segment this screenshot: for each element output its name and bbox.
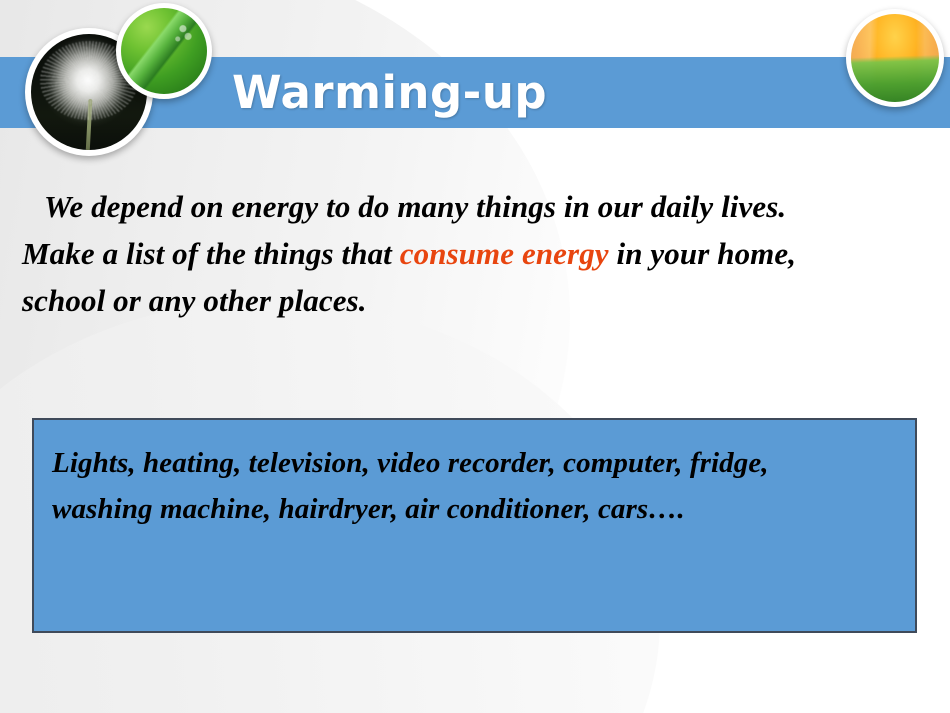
prompt-line-2-after-highlight: in your home, bbox=[609, 236, 796, 271]
page-title: Warming-up bbox=[232, 61, 852, 125]
answer-text-block: Lights, heating, television, video recor… bbox=[52, 440, 932, 532]
leaf-droplet-icon bbox=[121, 8, 207, 94]
answer-line-1: Lights, heating, television, video recor… bbox=[52, 447, 769, 479]
prompt-line-1: We depend on energy to do many things in… bbox=[44, 189, 786, 224]
prompt-paragraph: We depend on energy to do many things in… bbox=[22, 183, 932, 324]
prompt-line-2-before-highlight: Make a list of the things that bbox=[22, 236, 400, 271]
highlighted-phrase-consume-energy: consume energy bbox=[400, 236, 609, 271]
prompt-line-3: school or any other places. bbox=[22, 283, 367, 318]
tulip-icon bbox=[851, 14, 939, 102]
slide-canvas: Warming-up We depend on energy to do man… bbox=[0, 0, 950, 713]
answer-line-2: washing machine, hairdryer, air conditio… bbox=[52, 493, 685, 525]
